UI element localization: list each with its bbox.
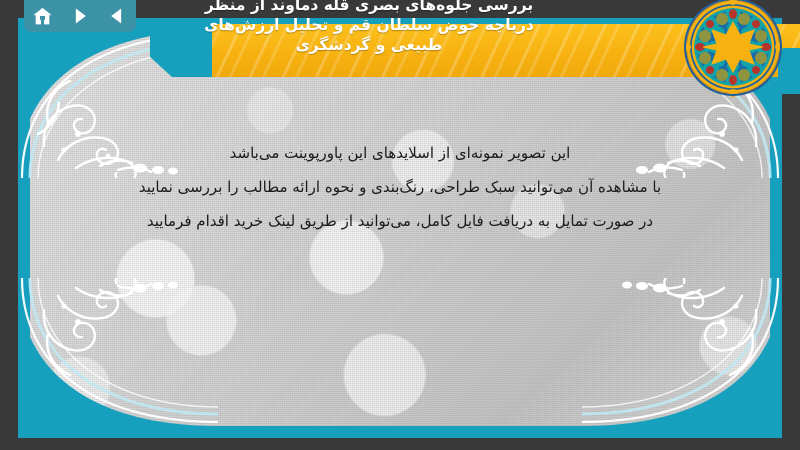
title-line-1: بررسی جلوه‌های بصری قله دماوند از منظر [70,0,668,16]
body-line-1: این تصویر نمونه‌ای از اسلایدهای این پاور… [48,136,752,170]
slide-navigation-bar [24,0,136,32]
title-line-2: دریاچه حوض سلطان قم و تحلیل ارزش‌های [70,16,668,36]
home-icon[interactable] [32,5,54,27]
body-line-2: با مشاهده آن می‌توانید سبک طراحی، رنگ‌بن… [48,170,752,204]
islamic-medallion-icon [680,0,786,100]
title-line-3: طبیعی و گردشگری [70,36,668,56]
slide-body-text: این تصویر نمونه‌ای از اسلایدهای این پاور… [48,136,752,238]
page-title: بررسی جلوه‌های بصری قله دماوند از منظر د… [70,0,668,55]
slide-viewer: این تصویر نمونه‌ای از اسلایدهای این پاور… [0,0,800,450]
back-arrow-icon[interactable] [106,5,128,27]
forward-arrow-icon[interactable] [69,5,91,27]
body-line-3: در صورت تمایل به دریافت فایل کامل، می‌تو… [48,204,752,238]
slide-canvas: این تصویر نمونه‌ای از اسلایدهای این پاور… [18,18,782,438]
